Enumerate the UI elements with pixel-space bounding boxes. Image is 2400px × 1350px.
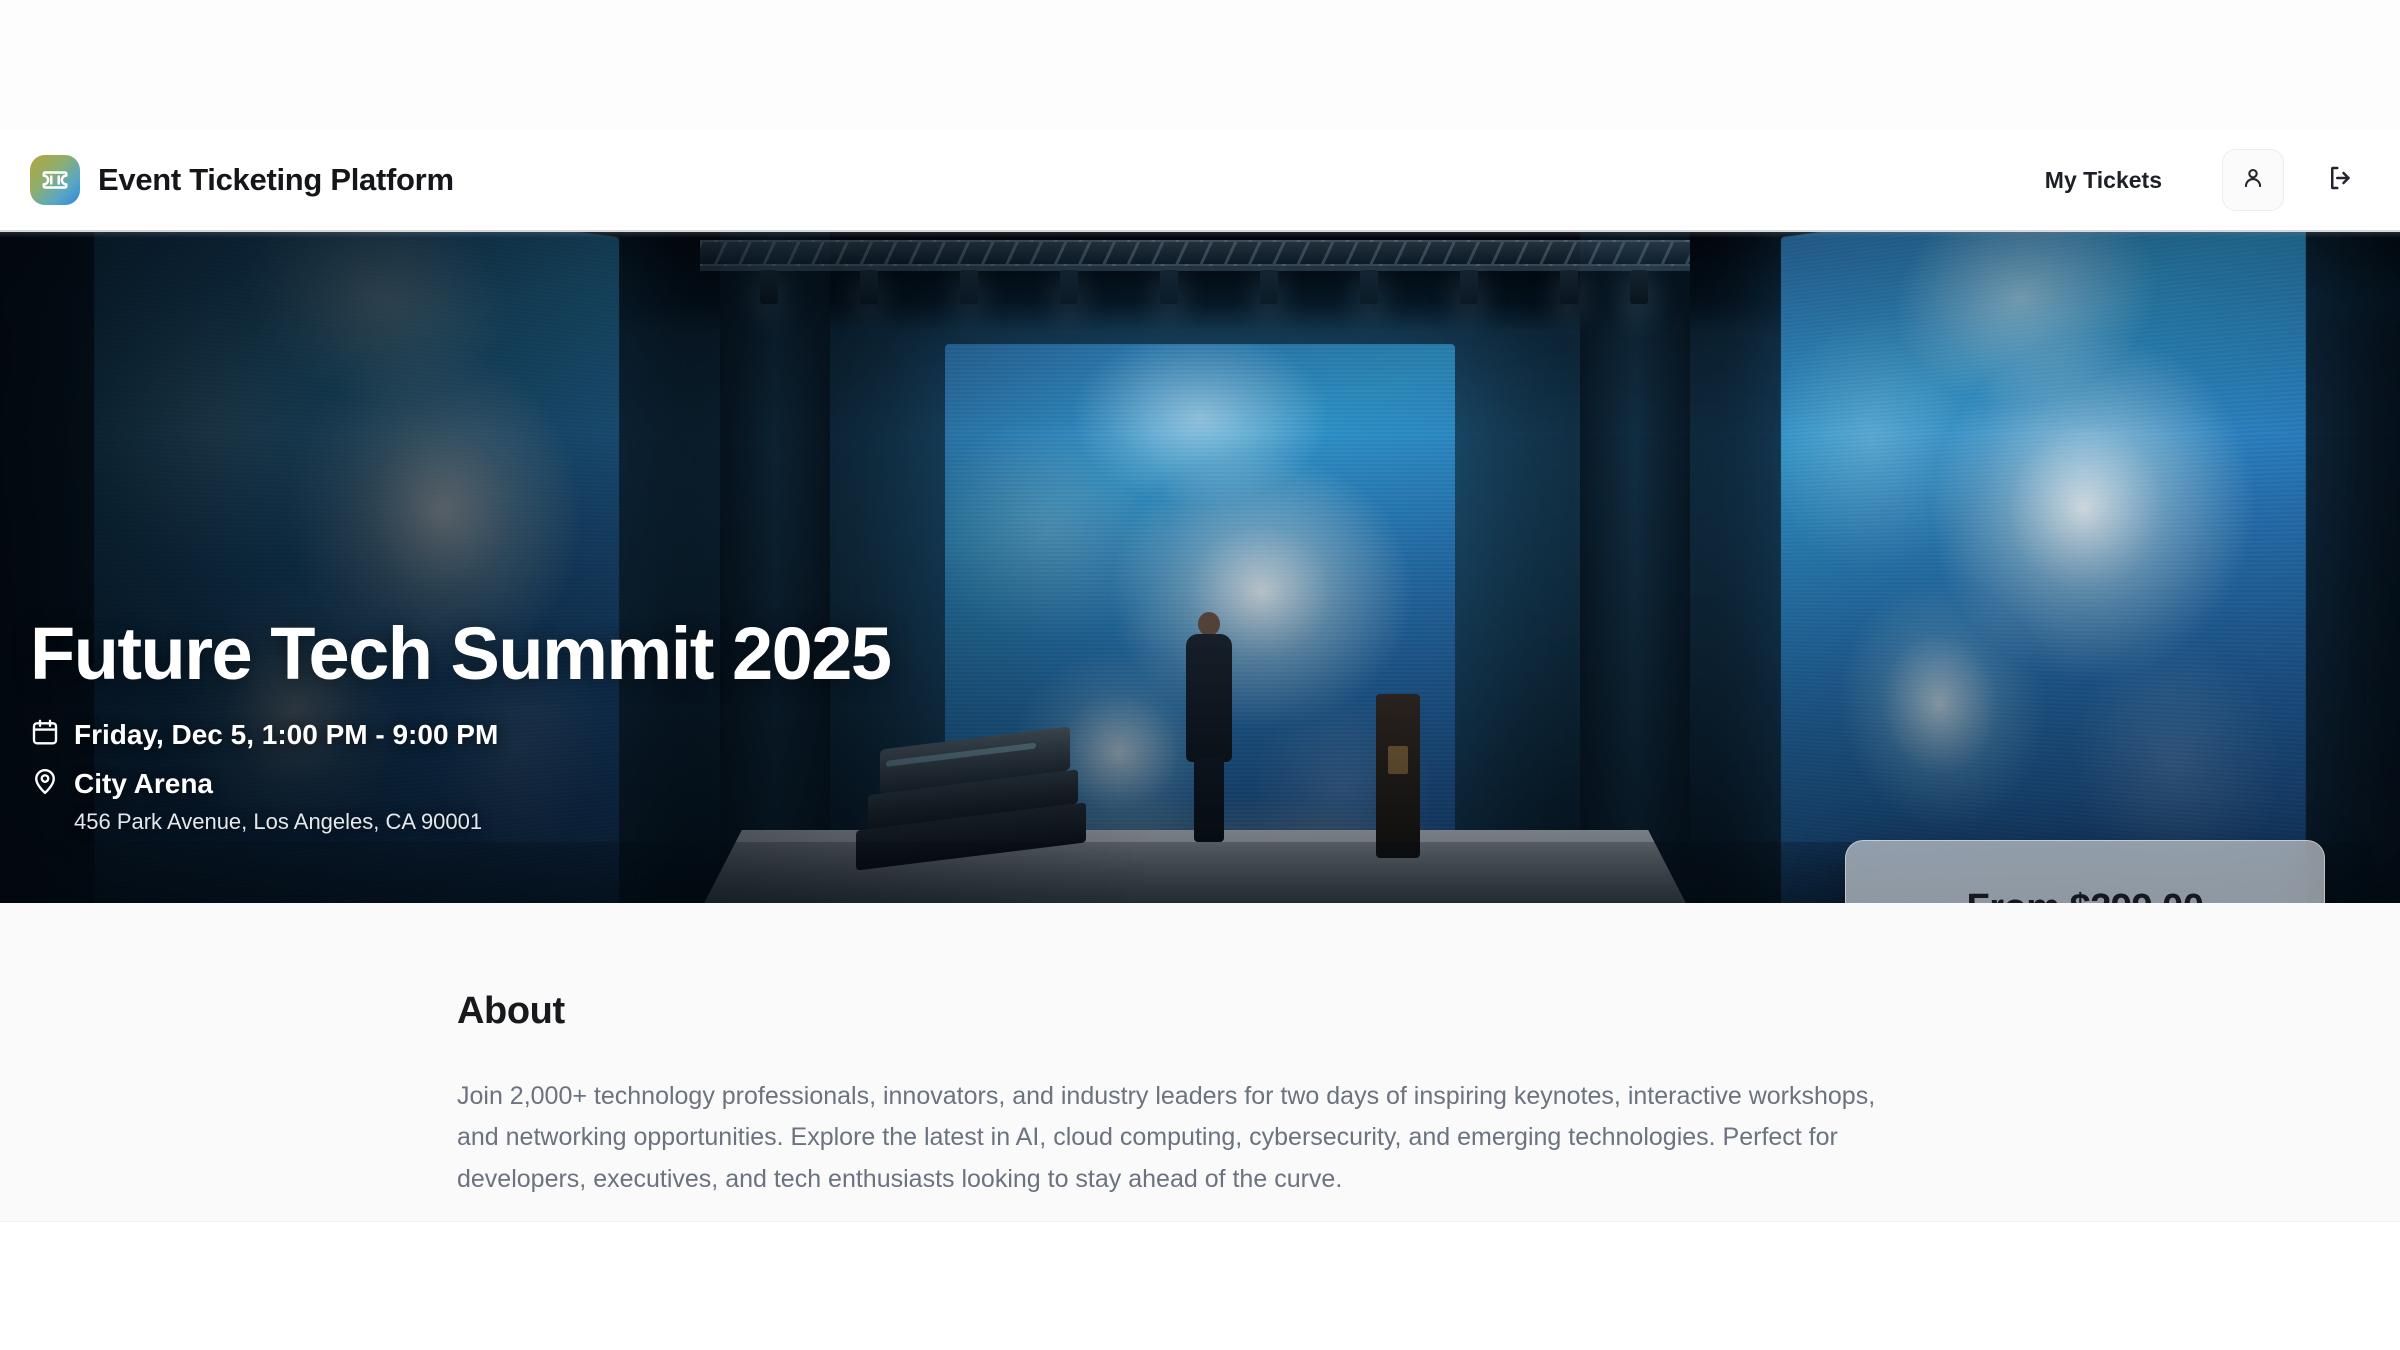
header-shadow xyxy=(0,230,2400,238)
page-top-spacer xyxy=(0,0,2400,130)
event-date-text: Friday, Dec 5, 1:00 PM - 9:00 PM xyxy=(74,719,498,751)
header-actions: My Tickets xyxy=(2027,149,2370,211)
event-title: Future Tech Summit 2025 xyxy=(30,615,891,693)
ticket-price-card: From $299.00 Get Tickets xyxy=(1845,840,2325,903)
about-heading: About xyxy=(457,990,1947,1033)
account-button[interactable] xyxy=(2222,149,2284,211)
calendar-icon xyxy=(30,717,60,752)
event-venue-row: City Arena xyxy=(30,766,891,801)
brand-title: Event Ticketing Platform xyxy=(98,162,454,198)
page-bottom-spacer xyxy=(0,1222,2400,1350)
brand-logo-group[interactable]: Event Ticketing Platform xyxy=(30,155,454,205)
event-detail-page: Event Ticketing Platform My Tickets xyxy=(0,0,2400,1350)
map-pin-icon xyxy=(30,766,60,801)
logout-icon xyxy=(2326,163,2356,198)
event-venue-address: 456 Park Avenue, Los Angeles, CA 90001 xyxy=(74,809,891,835)
logout-button[interactable] xyxy=(2312,151,2370,209)
about-section: About Join 2,000+ technology professiona… xyxy=(0,903,2400,1222)
user-icon xyxy=(2240,165,2266,196)
hero-content: Future Tech Summit 2025 Friday, Dec 5, 1… xyxy=(30,615,891,835)
nav-my-tickets[interactable]: My Tickets xyxy=(2027,155,2180,206)
ticket-icon xyxy=(30,155,80,205)
event-date-row: Friday, Dec 5, 1:00 PM - 9:00 PM xyxy=(30,717,891,752)
site-header: Event Ticketing Platform My Tickets xyxy=(0,130,2400,230)
about-body-text: Join 2,000+ technology professionals, in… xyxy=(457,1076,1902,1200)
hero-banner: Future Tech Summit 2025 Friday, Dec 5, 1… xyxy=(0,232,2400,903)
event-venue-name: City Arena xyxy=(74,768,213,800)
price-from-label: From $299.00 xyxy=(1967,887,2204,903)
